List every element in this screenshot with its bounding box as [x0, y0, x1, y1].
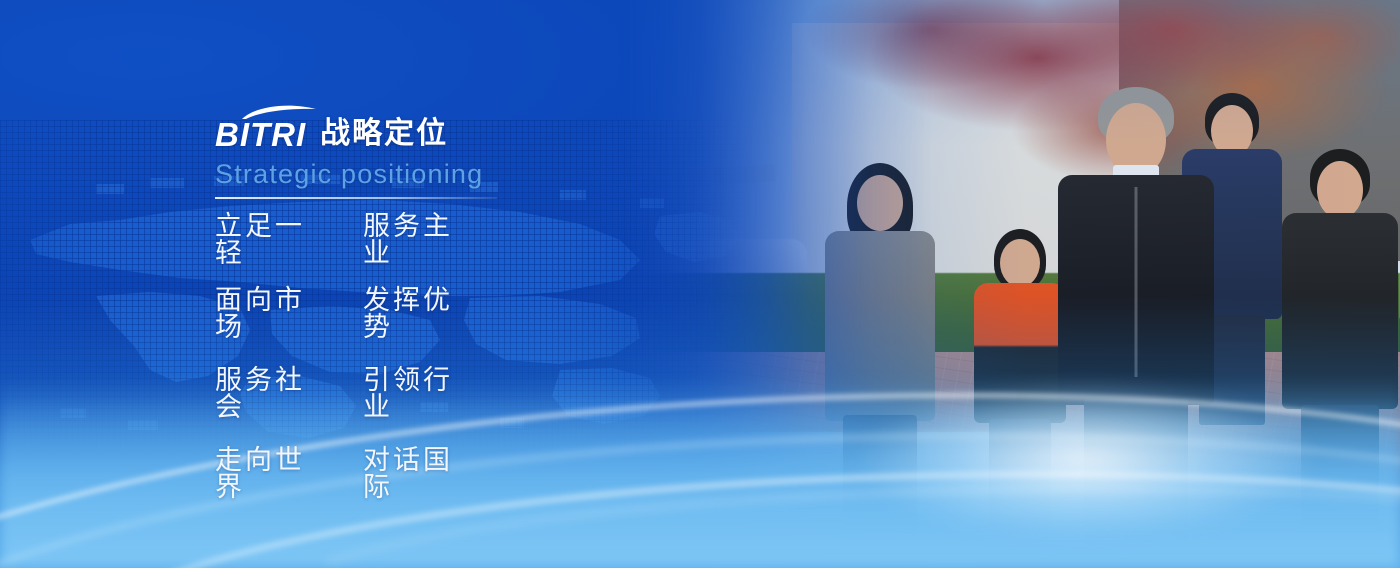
swoosh-arc-icon — [241, 104, 317, 120]
slogan-line: 服务社会 引领行业 — [215, 367, 775, 421]
page-title: 战略定位 — [320, 119, 448, 151]
slogan-right: 对话国际 — [363, 447, 481, 501]
slogan-right: 服务主业 — [363, 213, 481, 267]
slogan-left: 走向世界 — [215, 447, 333, 501]
slogan-left: 面向市场 — [215, 287, 333, 341]
subtitle-english: Strategic positioning — [215, 159, 775, 189]
slogan-line: 面向市场 发挥优势 — [215, 287, 775, 341]
banner-content: BITRI 战略定位 Strategic positioning 立足一轻 服务… — [215, 104, 775, 501]
slogan-list: 立足一轻 服务主业 面向市场 发挥优势 服务社会 引领行业 走向世界 对话国际 — [215, 213, 775, 501]
title-divider — [215, 197, 497, 199]
strategic-positioning-banner: BITRI 战略定位 Strategic positioning 立足一轻 服务… — [0, 0, 1400, 568]
slogan-right: 发挥优势 — [363, 287, 481, 341]
slogan-line: 走向世界 对话国际 — [215, 447, 775, 501]
slogan-line: 立足一轻 服务主业 — [215, 213, 775, 267]
title-row: BITRI 战略定位 — [215, 104, 775, 151]
bitri-logo-text: BITRI — [215, 116, 306, 153]
bitri-logo: BITRI — [215, 104, 306, 151]
slogan-left: 服务社会 — [215, 367, 333, 421]
slogan-left: 立足一轻 — [215, 213, 333, 267]
slogan-right: 引领行业 — [363, 367, 481, 421]
